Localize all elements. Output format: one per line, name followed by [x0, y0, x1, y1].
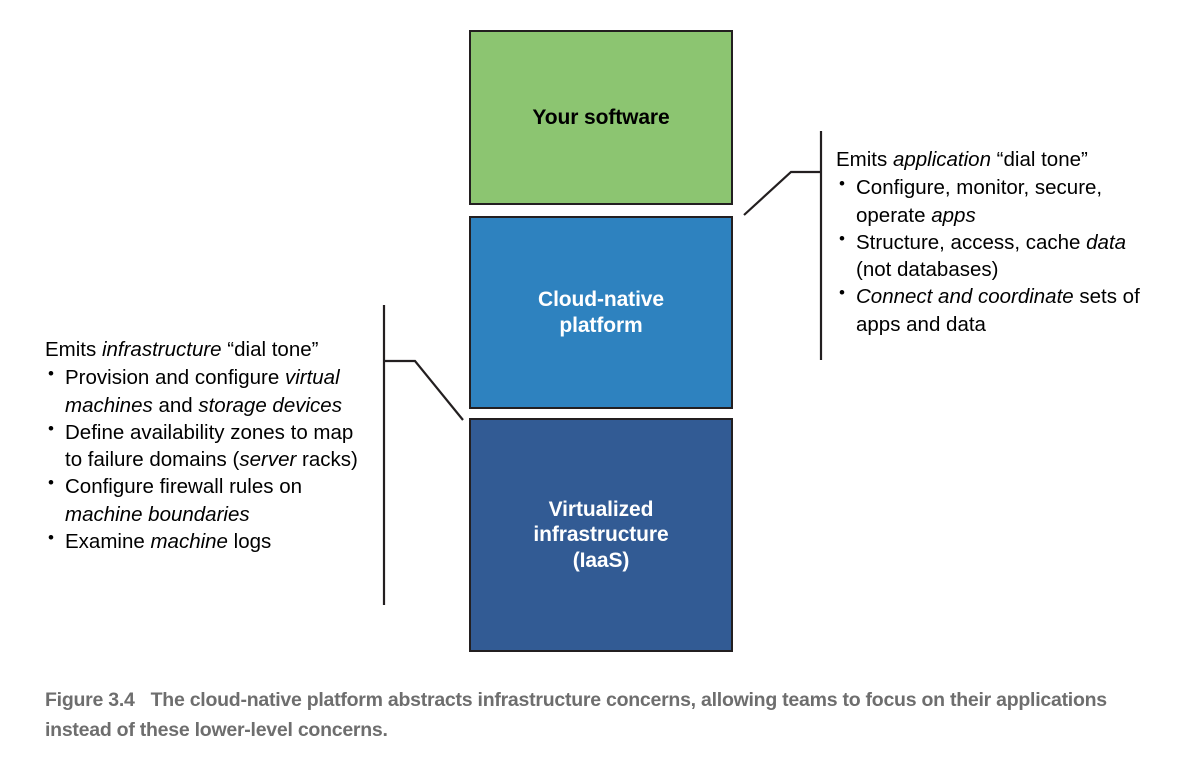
layer-label-line-1: Cloud-native [538, 288, 664, 311]
layer-label-line-3: (IaaS) [573, 549, 630, 572]
figure-caption: Figure 3.4The cloud-native platform abst… [45, 685, 1160, 745]
figure-caption-text: The cloud-native platform abstracts infr… [45, 689, 1107, 741]
item-post: racks) [296, 448, 358, 471]
item-pre: Examine [65, 530, 150, 553]
layer-box-cloud-native-platform: Cloud-native platform [469, 216, 733, 409]
callout-left-heading: Emits infrastructure “dial tone” [45, 336, 375, 363]
callout-right-list: Configure, monitor, secure, operate apps… [836, 174, 1166, 338]
item-emphasis: server [239, 448, 296, 471]
list-item: Define availability zones to map to fail… [48, 419, 375, 474]
callout-application-dial-tone: Emits application “dial tone” Configure,… [836, 146, 1166, 338]
heading-post: “dial tone” [222, 338, 319, 361]
list-item: Configure firewall rules on machine boun… [48, 473, 375, 528]
list-item: Provision and configure virtual machines… [48, 364, 375, 419]
layer-label-cloud-native-platform: Cloud-native platform [538, 287, 664, 338]
layer-label-line-1: Virtualized [549, 498, 654, 521]
item-pre: Structure, access, cache [856, 231, 1086, 254]
item-pre: Provision and configure [65, 366, 285, 389]
heading-emphasis: infrastructure [102, 338, 222, 361]
callout-left-list: Provision and configure virtual machines… [45, 364, 375, 555]
item-mid: and [153, 394, 199, 417]
heading-pre: Emits [836, 148, 893, 171]
item-pre: Configure firewall rules on [65, 475, 302, 498]
item-emphasis: data [1086, 231, 1126, 254]
list-item: Configure, monitor, secure, operate apps [839, 174, 1166, 229]
layer-box-your-software: Your software [469, 30, 733, 205]
item-emphasis: Connect and coordinate [856, 285, 1074, 308]
layer-box-virtualized-infrastructure: Virtualized infrastructure (IaaS) [469, 418, 733, 652]
list-item: Structure, access, cache data (not datab… [839, 229, 1166, 284]
list-item: Connect and coordinate sets of apps and … [839, 283, 1166, 338]
item-post: logs [228, 530, 271, 553]
item-emphasis: machine [150, 530, 228, 553]
list-item: Examine machine logs [48, 528, 375, 555]
item-emphasis: machine boundaries [65, 503, 250, 526]
item-post: (not databases) [856, 258, 998, 281]
heading-post: “dial tone” [991, 148, 1088, 171]
item-emphasis: apps [931, 204, 975, 227]
heading-emphasis: application [893, 148, 991, 171]
layer-label-virtualized-infrastructure: Virtualized infrastructure (IaaS) [533, 497, 668, 574]
callout-infrastructure-dial-tone: Emits infrastructure “dial tone” Provisi… [45, 336, 375, 555]
layer-label-line-2: infrastructure [533, 523, 668, 546]
heading-pre: Emits [45, 338, 102, 361]
item-pre: Configure, monitor, secure, operate [856, 176, 1102, 226]
callout-right-heading: Emits application “dial tone” [836, 146, 1166, 173]
figure-number: Figure 3.4 [45, 689, 135, 711]
layer-label-your-software: Your software [532, 105, 669, 131]
right-leader-elbow [744, 172, 821, 215]
layer-label-line-2: platform [559, 314, 642, 337]
item-emphasis-2: storage devices [198, 394, 342, 417]
left-leader-elbow [384, 361, 463, 420]
